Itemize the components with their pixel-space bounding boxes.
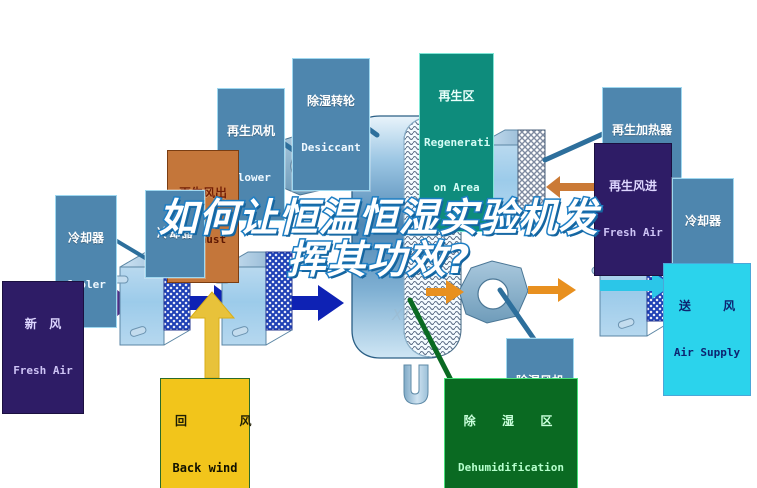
duct-elbow — [404, 365, 428, 404]
label-back-wind[interactable]: 回 风 Back wind — [160, 378, 250, 488]
label-back-wind-en: Back wind — [165, 462, 245, 475]
label-dehumid-district-en1: Dehumidification — [449, 462, 573, 474]
arrow-blower-to-cooler — [528, 278, 576, 302]
label-cooler-left-cn: 冷却器 — [60, 232, 112, 245]
label-dehumid-district-cn: 除 湿 区 — [449, 415, 573, 428]
label-back-wind-cn: 回 风 — [165, 415, 245, 428]
label-air-supply-en: Air Supply — [668, 347, 746, 359]
label-regeneration-area-en1: Regenerati — [424, 137, 489, 149]
label-air-supply-cn: 送 风 — [668, 300, 746, 313]
label-air-supply[interactable]: 送 风 Air Supply — [663, 263, 751, 396]
label-regeneration-area-en2: on Area — [424, 182, 489, 194]
label-regeneration-area-cn: 再生区 — [424, 90, 489, 103]
label-regen-fresh-air-en: Fresh Air — [599, 227, 667, 239]
label-fresh-air-en: Fresh Air — [7, 365, 79, 377]
label-desiccant-wheel-cn: 除湿转轮 — [297, 95, 365, 108]
label-regeneration-blower-cn: 再生风机 — [222, 125, 280, 138]
label-desiccant-wheel[interactable]: 除湿转轮 Desiccant — [292, 58, 370, 191]
label-regeneration-fresh-air-in[interactable]: 再生风进 Fresh Air — [594, 143, 672, 276]
label-cooler-right-cn: 冷却器 — [677, 215, 729, 228]
label-regen-fresh-air-cn: 再生风进 — [599, 180, 667, 193]
label-regeneration-area[interactable]: 再生区 Regenerati on Area — [419, 53, 494, 232]
label-fresh-air-cn: 新 风 — [7, 318, 79, 331]
label-cooler-mid[interactable]: 冷却器 — [145, 190, 205, 278]
label-desiccant-wheel-en: Desiccant — [297, 142, 365, 154]
schematic-canvas: XT — [0, 0, 757, 488]
svg-text:XT: XT — [391, 306, 413, 324]
label-regeneration-heater-cn: 再生加热器 — [607, 124, 677, 137]
label-cooler-mid-cn: 冷却器 — [150, 227, 200, 240]
arrow-cooler2-out — [292, 285, 344, 321]
label-dehumidification-district[interactable]: 除 湿 区 Dehumidification District — [444, 378, 578, 488]
label-fresh-air-in[interactable]: 新 风 Fresh Air — [2, 281, 84, 414]
